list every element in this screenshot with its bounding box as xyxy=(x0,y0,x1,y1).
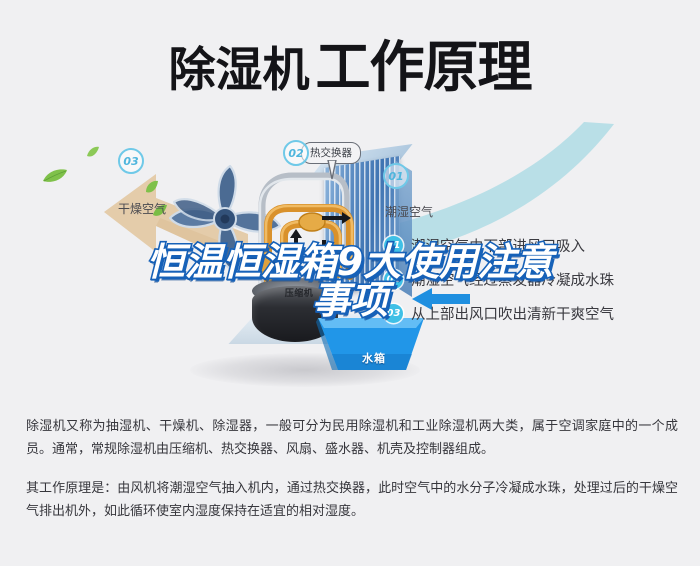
legend-item-03: 03 从上部出风口吹出清新干爽空气 xyxy=(384,296,684,330)
legend-item-01: 01 潮湿空气由下部进风口吸入 xyxy=(384,228,684,262)
page-title: 除湿机工作原理 xyxy=(0,22,700,102)
paragraph-1: 除湿机又称为抽湿机、干燥机、除湿器，一般可分为民用除湿机和工业除湿机两大类，属于… xyxy=(26,415,678,461)
leaf-icon xyxy=(42,168,68,184)
label-water-tank: 水箱 xyxy=(362,350,386,366)
infographic-page: 除湿机工作原理 xyxy=(0,0,700,566)
callout-heat-exchanger-text: 热交换器 xyxy=(310,147,352,159)
paragraph-2-text: 由风机将潮湿空气抽入机内，通过热交换器，此时空气中的水分子冷凝成水珠，处理过后的… xyxy=(26,481,678,519)
leaf-icon xyxy=(86,146,100,158)
diagram-badge-03: 03 xyxy=(118,148,144,174)
leaf-icon xyxy=(144,180,159,194)
diagram-badge-02: 02 xyxy=(283,140,309,166)
callout-tail-icon xyxy=(327,160,337,180)
legend-item-02: 02 潮湿空气经过蒸发器冷凝成水珠 xyxy=(384,262,684,296)
legend-list: 01 潮湿空气由下部进风口吸入 02 潮湿空气经过蒸发器冷凝成水珠 03 从上部… xyxy=(384,228,684,330)
label-humid-air: 潮湿空气 xyxy=(385,203,433,220)
legend-text-01: 潮湿空气由下部进风口吸入 xyxy=(411,235,585,256)
body-text: 除湿机又称为抽湿机、干燥机、除湿器，一般可分为民用除湿机和工业除湿机两大类，属于… xyxy=(26,415,678,539)
label-dry-air: 干燥空气 xyxy=(118,200,166,217)
title-part-2: 工作原理 xyxy=(315,35,531,99)
title-part-1: 除湿机 xyxy=(168,43,309,98)
diagram-badge-01: 01 xyxy=(383,163,409,189)
paragraph-2: 其工作原理是：由风机将潮湿空气抽入机内，通过热交换器，此时空气中的水分子冷凝成水… xyxy=(26,477,678,523)
legend-badge-01: 01 xyxy=(384,236,403,255)
legend-badge-02: 02 xyxy=(384,270,403,289)
paragraph-2-label: 其工作原理是： xyxy=(26,481,117,496)
legend-badge-03: 03 xyxy=(384,304,403,323)
legend-text-02: 潮湿空气经过蒸发器冷凝成水珠 xyxy=(411,269,614,290)
copper-coil xyxy=(250,180,358,292)
label-compressor: 压缩机 xyxy=(264,286,334,299)
legend-text-03: 从上部出风口吹出清新干爽空气 xyxy=(411,303,614,324)
